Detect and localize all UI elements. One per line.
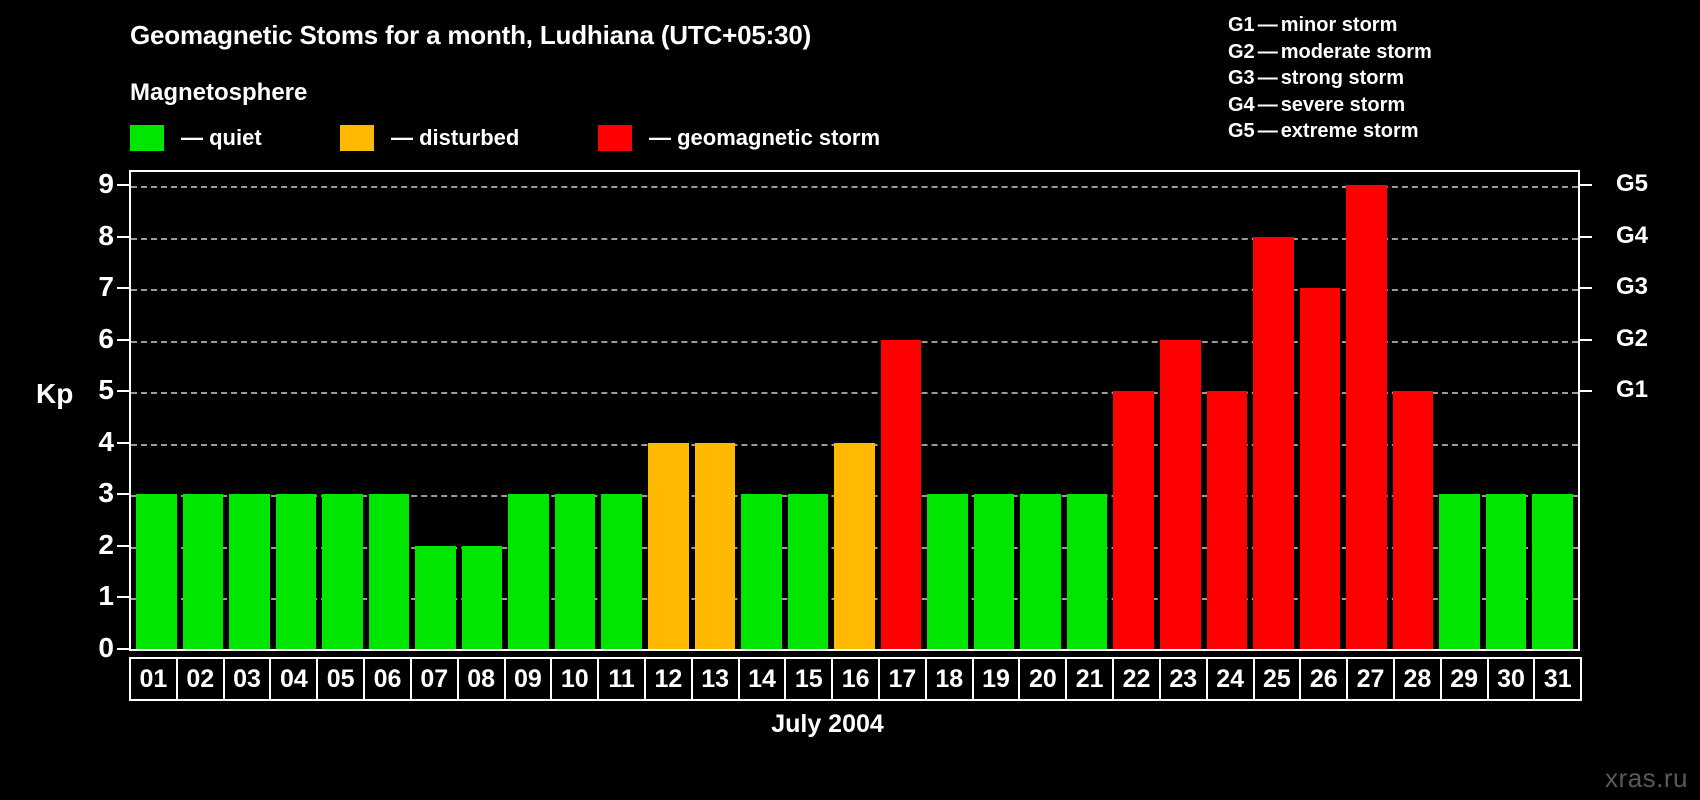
bar-cell[interactable] bbox=[1297, 172, 1344, 649]
g-scale-code: G3 bbox=[1228, 65, 1255, 92]
day-label-08[interactable]: 08 bbox=[457, 657, 506, 701]
day-label-05[interactable]: 05 bbox=[316, 657, 365, 701]
bar-day-18[interactable] bbox=[927, 494, 968, 649]
bar-day-08[interactable] bbox=[462, 546, 503, 649]
bar-day-30[interactable] bbox=[1486, 494, 1527, 649]
bar-day-03[interactable] bbox=[229, 494, 270, 649]
day-label-13[interactable]: 13 bbox=[691, 657, 740, 701]
bar-cell[interactable] bbox=[1110, 172, 1157, 649]
bar-cell[interactable] bbox=[180, 172, 227, 649]
bar-day-10[interactable] bbox=[555, 494, 596, 649]
y-tick-mark bbox=[117, 648, 129, 650]
bar-cell[interactable] bbox=[459, 172, 506, 649]
day-label-27[interactable]: 27 bbox=[1346, 657, 1395, 701]
bar-cell[interactable] bbox=[1017, 172, 1064, 649]
g-scale-dash: — bbox=[1255, 92, 1281, 119]
bar-cell[interactable] bbox=[785, 172, 832, 649]
bar-day-23[interactable] bbox=[1160, 340, 1201, 649]
y-tick-label: 1 bbox=[84, 582, 114, 610]
g-scale-row: G5—extreme storm bbox=[1228, 118, 1432, 145]
bar-day-12[interactable] bbox=[648, 443, 689, 649]
bar-cell[interactable] bbox=[598, 172, 645, 649]
day-label-18[interactable]: 18 bbox=[925, 657, 974, 701]
day-label-31[interactable]: 31 bbox=[1533, 657, 1582, 701]
g-scale-description: extreme storm bbox=[1281, 120, 1419, 142]
page-title: Geomagnetic Stoms for a month, Ludhiana … bbox=[130, 20, 811, 51]
bar-day-09[interactable] bbox=[508, 494, 549, 649]
y-axis-label: Kp bbox=[36, 378, 73, 410]
g-scale-description: strong storm bbox=[1281, 67, 1404, 89]
bar-cell[interactable] bbox=[552, 172, 599, 649]
y-tick-mark bbox=[117, 287, 129, 289]
bar-day-17[interactable] bbox=[881, 340, 922, 649]
bar-cell[interactable] bbox=[319, 172, 366, 649]
bar-day-06[interactable] bbox=[369, 494, 410, 649]
bar-day-29[interactable] bbox=[1439, 494, 1480, 649]
bar-day-28[interactable] bbox=[1393, 391, 1434, 649]
bar-day-27[interactable] bbox=[1346, 185, 1387, 649]
day-label-20[interactable]: 20 bbox=[1018, 657, 1067, 701]
y-tick-label: 3 bbox=[84, 479, 114, 507]
bar-cell[interactable] bbox=[1483, 172, 1530, 649]
day-label-30[interactable]: 30 bbox=[1487, 657, 1536, 701]
g-scale-row: G1—minor storm bbox=[1228, 12, 1432, 39]
bar-day-20[interactable] bbox=[1020, 494, 1061, 649]
y-tick-label: 2 bbox=[84, 531, 114, 559]
y-tick-mark bbox=[117, 339, 129, 341]
bar-cell[interactable] bbox=[1343, 172, 1390, 649]
g-axis-tick-mark bbox=[1580, 390, 1592, 392]
bars-layer bbox=[133, 172, 1576, 649]
day-label-11[interactable]: 11 bbox=[597, 657, 646, 701]
g-scale-dash: — bbox=[1255, 65, 1281, 92]
g-scale-dash: — bbox=[1255, 39, 1281, 66]
day-label-02[interactable]: 02 bbox=[176, 657, 225, 701]
day-label-10[interactable]: 10 bbox=[550, 657, 599, 701]
g-scale-row: G2—moderate storm bbox=[1228, 39, 1432, 66]
bar-day-04[interactable] bbox=[276, 494, 317, 649]
bar-cell[interactable] bbox=[924, 172, 971, 649]
bar-cell[interactable] bbox=[738, 172, 785, 649]
bar-cell[interactable] bbox=[273, 172, 320, 649]
bar-cell[interactable] bbox=[1204, 172, 1251, 649]
day-label-29[interactable]: 29 bbox=[1440, 657, 1489, 701]
g-scale-dash: — bbox=[1255, 118, 1281, 145]
g-scale-description: moderate storm bbox=[1281, 41, 1432, 63]
bar-cell[interactable] bbox=[971, 172, 1018, 649]
day-label-15[interactable]: 15 bbox=[784, 657, 833, 701]
g-scale-code: G2 bbox=[1228, 39, 1255, 66]
day-label-03[interactable]: 03 bbox=[223, 657, 272, 701]
bar-day-13[interactable] bbox=[695, 443, 736, 649]
legend-item-disturbed: — disturbed bbox=[340, 125, 519, 151]
g-scale-legend: G1—minor storm G2—moderate storm G3—stro… bbox=[1228, 12, 1432, 145]
y-tick-label: 9 bbox=[84, 170, 114, 198]
watermark: xras.ru bbox=[1605, 763, 1688, 794]
day-label-06[interactable]: 06 bbox=[363, 657, 412, 701]
g-scale-description: minor storm bbox=[1281, 14, 1398, 36]
bar-day-24[interactable] bbox=[1207, 391, 1248, 649]
g-axis-tick-label: G3 bbox=[1616, 275, 1648, 299]
x-axis-title-text: July 2004 bbox=[771, 710, 884, 739]
y-tick-mark bbox=[117, 596, 129, 598]
g-scale-code: G5 bbox=[1228, 118, 1255, 145]
y-tick-label: 7 bbox=[84, 273, 114, 301]
day-label-14[interactable]: 14 bbox=[738, 657, 787, 701]
g-axis-tick-mark bbox=[1580, 236, 1592, 238]
y-tick-mark bbox=[117, 442, 129, 444]
day-label-25[interactable]: 25 bbox=[1253, 657, 1302, 701]
legend-label-storm: — geomagnetic storm bbox=[649, 125, 880, 151]
bar-day-19[interactable] bbox=[974, 494, 1015, 649]
bar-cell[interactable] bbox=[692, 172, 739, 649]
day-label-24[interactable]: 24 bbox=[1206, 657, 1255, 701]
bar-cell[interactable] bbox=[645, 172, 692, 649]
g-scale-row: G3—strong storm bbox=[1228, 65, 1432, 92]
bar-cell[interactable] bbox=[366, 172, 413, 649]
y-tick-mark bbox=[117, 184, 129, 186]
y-tick-label: 8 bbox=[84, 222, 114, 250]
y-tick-label: 0 bbox=[84, 634, 114, 662]
day-label-09[interactable]: 09 bbox=[504, 657, 553, 701]
g-scale-code: G4 bbox=[1228, 92, 1255, 119]
bar-day-31[interactable] bbox=[1532, 494, 1573, 649]
plot-inner bbox=[131, 172, 1578, 649]
y-tick-label: 5 bbox=[84, 376, 114, 404]
g-axis-tick-label: G5 bbox=[1616, 172, 1648, 196]
bar-day-15[interactable] bbox=[788, 494, 829, 649]
legend-swatch-disturbed bbox=[340, 125, 374, 151]
bar-cell[interactable] bbox=[1157, 172, 1204, 649]
bar-cell[interactable] bbox=[831, 172, 878, 649]
day-label-17[interactable]: 17 bbox=[878, 657, 927, 701]
day-label-28[interactable]: 28 bbox=[1393, 657, 1442, 701]
bar-day-16[interactable] bbox=[834, 443, 875, 649]
bar-cell[interactable] bbox=[1436, 172, 1483, 649]
bar-cell[interactable] bbox=[1250, 172, 1297, 649]
legend-item-storm: — geomagnetic storm bbox=[598, 125, 880, 151]
magnetosphere-heading: Magnetosphere bbox=[130, 79, 307, 107]
day-label-22[interactable]: 22 bbox=[1112, 657, 1161, 701]
bar-cell[interactable] bbox=[878, 172, 925, 649]
day-label-26[interactable]: 26 bbox=[1299, 657, 1348, 701]
bar-day-21[interactable] bbox=[1067, 494, 1108, 649]
legend-label-disturbed: — disturbed bbox=[391, 125, 519, 151]
bar-cell[interactable] bbox=[412, 172, 459, 649]
bar-day-07[interactable] bbox=[415, 546, 456, 649]
bar-cell[interactable] bbox=[1529, 172, 1576, 649]
g-axis-tick-label: G4 bbox=[1616, 224, 1648, 248]
legend-item-quiet: — quiet bbox=[130, 125, 262, 151]
y-tick-mark bbox=[117, 390, 129, 392]
bar-day-25[interactable] bbox=[1253, 237, 1294, 649]
day-label-23[interactable]: 23 bbox=[1159, 657, 1208, 701]
day-label-07[interactable]: 07 bbox=[410, 657, 459, 701]
legend-label-quiet: — quiet bbox=[181, 125, 262, 151]
day-label-21[interactable]: 21 bbox=[1065, 657, 1114, 701]
day-label-04[interactable]: 04 bbox=[269, 657, 318, 701]
plot-area bbox=[129, 170, 1580, 651]
g-axis-tick-label: G1 bbox=[1616, 378, 1648, 402]
day-label-19[interactable]: 19 bbox=[972, 657, 1021, 701]
g-scale-row: G4—severe storm bbox=[1228, 92, 1432, 119]
g-scale-description: severe storm bbox=[1281, 94, 1406, 116]
x-axis-title: July 2004 bbox=[0, 710, 1700, 739]
legend-swatch-quiet bbox=[130, 125, 164, 151]
g-axis-tick-label: G2 bbox=[1616, 327, 1648, 351]
day-label-01[interactable]: 01 bbox=[129, 657, 178, 701]
bar-cell[interactable] bbox=[505, 172, 552, 649]
y-tick-label: 4 bbox=[84, 428, 114, 456]
bar-day-05[interactable] bbox=[322, 494, 363, 649]
g-axis-tick-mark bbox=[1580, 339, 1592, 341]
bar-cell[interactable] bbox=[1390, 172, 1437, 649]
g-axis-tick-mark bbox=[1580, 184, 1592, 186]
day-label-12[interactable]: 12 bbox=[644, 657, 693, 701]
bar-cell[interactable] bbox=[226, 172, 273, 649]
y-tick-mark bbox=[117, 236, 129, 238]
g-axis-tick-mark bbox=[1580, 287, 1592, 289]
y-tick-mark bbox=[117, 545, 129, 547]
bar-cell[interactable] bbox=[1064, 172, 1111, 649]
bar-day-01[interactable] bbox=[136, 494, 177, 649]
g-scale-dash: — bbox=[1255, 12, 1281, 39]
y-tick-label: 6 bbox=[84, 325, 114, 353]
g-scale-code: G1 bbox=[1228, 12, 1255, 39]
bar-cell[interactable] bbox=[133, 172, 180, 649]
bar-day-26[interactable] bbox=[1300, 288, 1341, 649]
x-axis-day-labels: 0102030405060708091011121314151617181920… bbox=[129, 657, 1580, 701]
bar-day-02[interactable] bbox=[183, 494, 224, 649]
legend-swatch-storm bbox=[598, 125, 632, 151]
bar-day-14[interactable] bbox=[741, 494, 782, 649]
y-tick-mark bbox=[117, 493, 129, 495]
day-label-16[interactable]: 16 bbox=[831, 657, 880, 701]
bar-day-11[interactable] bbox=[601, 494, 642, 649]
bar-day-22[interactable] bbox=[1113, 391, 1154, 649]
